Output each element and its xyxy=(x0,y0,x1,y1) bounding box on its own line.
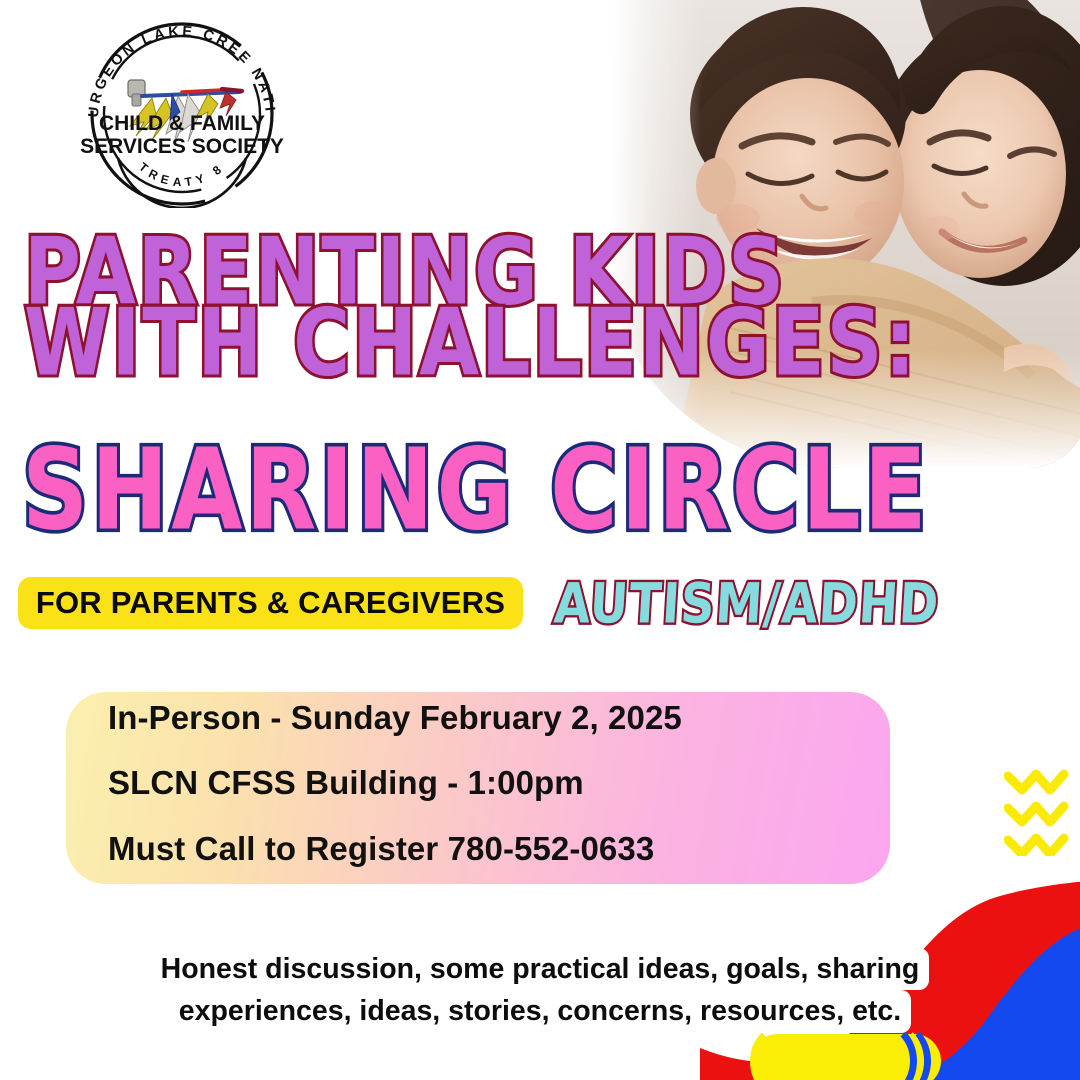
event-details-lines: In-Person - Sunday February 2, 2025 SLCN… xyxy=(108,700,908,896)
description-blurb: Honest discussion, some practical ideas,… xyxy=(0,948,1080,1033)
event-venue-line: SLCN CFSS Building - 1:00pm xyxy=(108,765,908,801)
subheadline-text: SHARING CIRCLE xyxy=(22,437,1062,544)
headline-line-2: WITH CHALLENGES: xyxy=(24,299,1044,386)
logo-center-line-1: CHILD & FAMILY xyxy=(99,112,265,135)
subheadline-block: SHARING CIRCLE xyxy=(22,437,1062,524)
audience-badge-label: FOR PARENTS & CAREGIVERS xyxy=(36,585,505,621)
blurb-line-2: experiences, ideas, stories, concerns, r… xyxy=(169,990,911,1032)
yellow-zigzag-decoration xyxy=(1004,760,1072,861)
poster-canvas: STURGEON LAKE CREE NATION CHILD & FAMILY xyxy=(0,0,1080,1080)
event-date-line: In-Person - Sunday February 2, 2025 xyxy=(108,700,908,736)
logo-center-line-2: SERVICES SOCIETY xyxy=(80,135,284,158)
organization-logo: STURGEON LAKE CREE NATION CHILD & FAMILY xyxy=(78,18,286,208)
audience-badge: FOR PARENTS & CAREGIVERS xyxy=(18,577,523,629)
topic-label: AUTISM/ADHD xyxy=(552,572,941,637)
event-registration-line: Must Call to Register 780-552-0633 xyxy=(108,831,908,867)
yellow-striped-pill-decoration xyxy=(735,1030,965,1080)
headline-block: PARENTING KIDS WITH CHALLENGES: xyxy=(24,228,1024,371)
blurb-line-1: Honest discussion, some practical ideas,… xyxy=(151,948,930,990)
